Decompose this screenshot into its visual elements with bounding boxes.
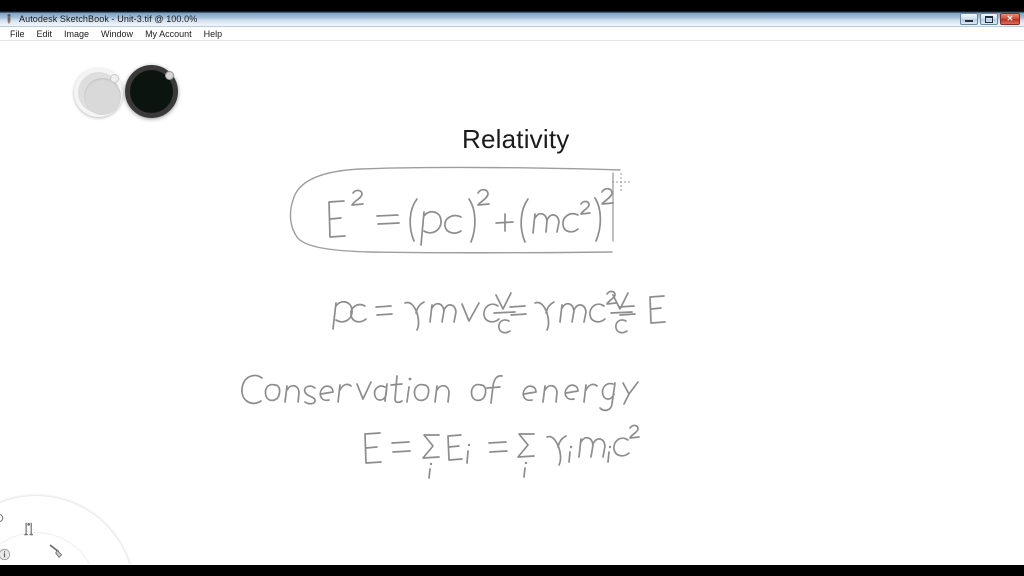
lasso-icon-glyph xyxy=(0,512,5,527)
menu-item-edit[interactable]: Edit xyxy=(31,27,59,41)
maximize-icon xyxy=(981,14,997,24)
close-button[interactable]: ✕ xyxy=(1000,13,1020,25)
menu-item-image[interactable]: Image xyxy=(58,27,95,41)
maximize-button[interactable] xyxy=(980,13,998,25)
momentum-equation-ink xyxy=(333,291,665,332)
menu-item-file[interactable]: File xyxy=(4,27,31,41)
sketchbook-app-icon xyxy=(4,14,14,25)
section-heading-ink xyxy=(242,375,638,410)
title-bar: Autodesk SketchBook - Unit-3.tif @ 100.0… xyxy=(0,11,1024,27)
info-icon[interactable] xyxy=(0,546,12,562)
menu-bar: File Edit Image Window My Account Help xyxy=(0,27,1024,41)
letterbox-bottom xyxy=(0,565,1024,576)
energy-sum-equation-ink xyxy=(365,425,639,478)
info-icon-glyph xyxy=(0,548,11,561)
sketchbook-window: Autodesk SketchBook - Unit-3.tif @ 100.0… xyxy=(0,11,1024,565)
screen: Autodesk SketchBook - Unit-3.tif @ 100.0… xyxy=(0,0,1024,576)
boxed-equation-ink xyxy=(329,189,613,245)
minimize-icon xyxy=(961,14,977,24)
menu-item-my-account[interactable]: My Account xyxy=(139,27,198,41)
brush-icon-glyph xyxy=(48,542,65,559)
radial-lagoon-menu[interactable] xyxy=(0,496,134,564)
ink-layer xyxy=(0,41,1024,564)
menu-item-window[interactable]: Window xyxy=(95,27,139,41)
brush-icon[interactable] xyxy=(45,539,67,561)
window-title: Autodesk SketchBook - Unit-3.tif @ 100.0… xyxy=(19,13,197,25)
minimize-button[interactable] xyxy=(960,13,978,25)
menu-item-help[interactable]: Help xyxy=(198,27,229,41)
ruler-icon[interactable] xyxy=(18,518,40,540)
equation-box-stroke xyxy=(290,167,620,252)
drawing-canvas[interactable]: Relativity xyxy=(0,41,1024,564)
crosshair-cursor xyxy=(612,173,630,191)
close-icon: ✕ xyxy=(1001,14,1019,24)
ruler-icon-glyph xyxy=(21,521,38,538)
lasso-icon[interactable] xyxy=(0,508,8,530)
letterbox-top xyxy=(0,0,1024,11)
